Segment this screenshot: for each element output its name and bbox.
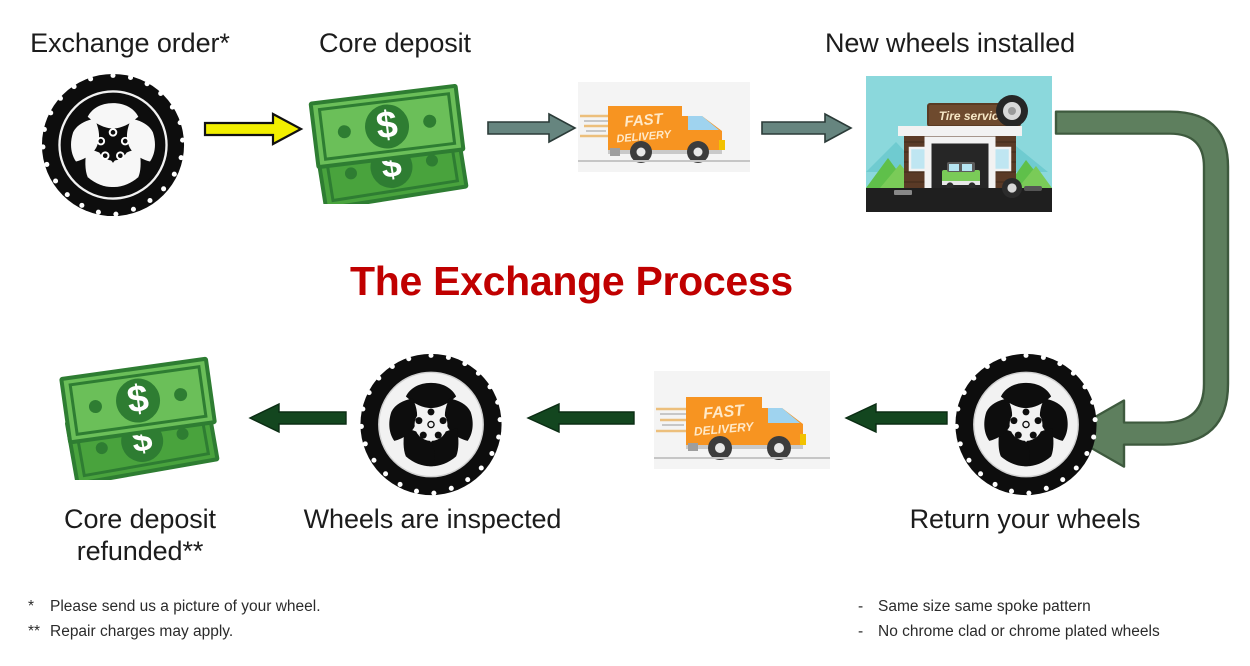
- footnote-right-2: -No chrome clad or chrome plated wheels: [858, 619, 1160, 644]
- label-core-deposit-refunded: Core deposit refunded**: [35, 504, 245, 568]
- footnote-right-1-text: Same size same spoke pattern: [878, 598, 1091, 615]
- footnote-left-2-mark: **: [28, 619, 50, 644]
- footnote-left-2: **Repair charges may apply.: [28, 619, 321, 644]
- truck-delivery-outbound-icon: FAST DELIVERY: [578, 82, 750, 172]
- footnote-right-2-mark: -: [858, 619, 878, 644]
- exchange-process-diagram: Exchange order* Core deposit New wheels …: [0, 0, 1250, 666]
- money-refund-icon: $ $: [57, 348, 232, 480]
- footnote-right-2-text: No chrome clad or chrome plated wheels: [878, 623, 1160, 640]
- label-core-deposit-refunded-line2: refunded**: [35, 536, 245, 568]
- svg-text:Tire service: Tire service: [939, 109, 1006, 123]
- footnote-left-1-mark: *: [28, 594, 50, 619]
- arrow-shipping-to-inspection: [525, 402, 635, 434]
- arrow-return-to-shipping: [843, 402, 948, 434]
- arrow-order-to-deposit: [203, 112, 303, 146]
- footnote-right-1-mark: -: [858, 594, 878, 619]
- wheel-inspected-icon: [357, 352, 505, 497]
- footnotes-left: *Please send us a picture of your wheel.…: [28, 594, 321, 644]
- arrow-deposit-to-delivery: [487, 112, 577, 144]
- footnote-right-1: -Same size same spoke pattern: [858, 594, 1160, 619]
- arrow-inspected-to-refund: [247, 402, 347, 434]
- truck-delivery-return-icon: FAST DELIVERY: [654, 371, 830, 469]
- label-core-deposit: Core deposit: [285, 28, 505, 60]
- svg-text:FAST: FAST: [624, 110, 666, 130]
- money-core-deposit-icon: $ $: [306, 78, 481, 204]
- label-return-your-wheels: Return your wheels: [900, 504, 1150, 536]
- label-core-deposit-refunded-line1: Core deposit: [35, 504, 245, 536]
- label-new-wheels-installed: New wheels installed: [800, 28, 1100, 60]
- footnote-left-1-text: Please send us a picture of your wheel.: [50, 598, 321, 615]
- label-exchange-order: Exchange order*: [10, 28, 250, 60]
- footnote-left-1: *Please send us a picture of your wheel.: [28, 594, 321, 619]
- page-title: The Exchange Process: [350, 258, 793, 305]
- wheel-return-icon: [952, 352, 1100, 497]
- arrow-delivery-to-shop: [761, 112, 853, 144]
- label-wheels-inspected: Wheels are inspected: [300, 504, 565, 536]
- footnote-left-2-text: Repair charges may apply.: [50, 623, 233, 640]
- wheel-dark-icon: [38, 72, 188, 218]
- footnotes-right: -Same size same spoke pattern -No chrome…: [858, 594, 1160, 644]
- tire-service-shop-icon: Tire service: [866, 76, 1052, 212]
